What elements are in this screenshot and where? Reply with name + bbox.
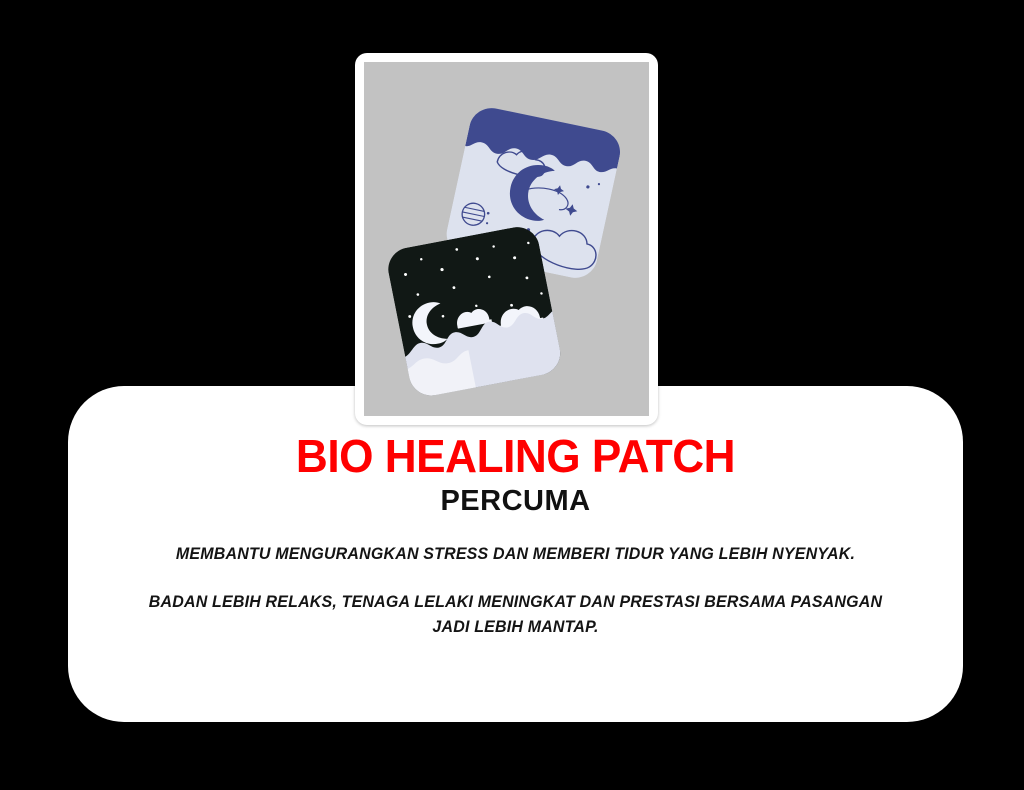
promo-subtitle: PERCUMA: [68, 486, 963, 518]
promo-body-paragraph-1: MEMBANTU MENGURANGKAN STRESS DAN MEMBERI…: [95, 542, 936, 567]
promo-text-block: BIO HEALING PATCH PERCUMA MEMBANTU MENGU…: [68, 432, 963, 639]
product-image-card: [355, 53, 658, 425]
product-photo: [364, 62, 649, 416]
sleep-patch-illustration: [364, 62, 649, 416]
page-title: BIO HEALING PATCH: [86, 432, 945, 482]
promo-body-paragraph-2: BADAN LEBIH RELAKS, TENAGA LELAKI MENING…: [95, 590, 936, 639]
promo-stage: BIO HEALING PATCH PERCUMA MEMBANTU MENGU…: [0, 0, 1024, 790]
